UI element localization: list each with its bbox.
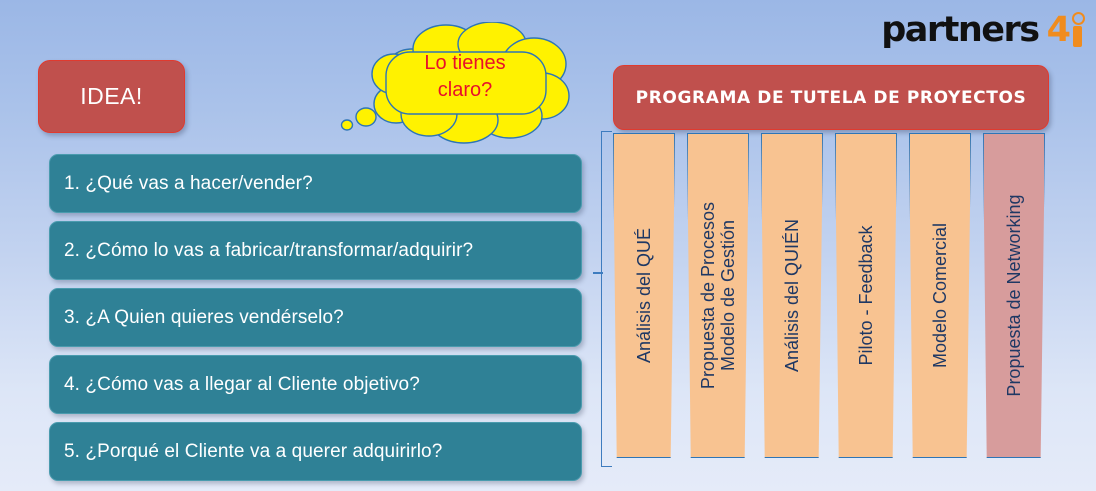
stage-label: Propuesta de Networking — [984, 134, 1044, 457]
stage-label: Propuesta de Procesos Modelo de Gestión — [688, 134, 748, 457]
brand-name: partners — [881, 13, 1038, 48]
question-label: 1. ¿Qué vas a hacer/vender? — [50, 173, 313, 195]
program-stages: Análisis del QUÉ Propuesta de Procesos M… — [613, 133, 1063, 458]
stage-chevron-6[interactable]: Propuesta de Networking — [983, 133, 1045, 458]
stage-label: Piloto - Feedback — [836, 134, 896, 457]
slide-canvas: partners 4 IDEA! — [0, 0, 1096, 491]
stage-label: Modelo Comercial — [910, 134, 970, 457]
stage-chevron-5[interactable]: Modelo Comercial — [909, 133, 971, 458]
lightbulb-i-icon — [1071, 12, 1084, 48]
question-label: 4. ¿Cómo vas a llegar al Cliente objetiv… — [50, 374, 420, 396]
thought-bubble: Lo tienes claro? — [334, 22, 574, 147]
stage-chevron-1[interactable]: Análisis del QUÉ — [613, 133, 675, 458]
question-item-5[interactable]: 5. ¿Porqué el Cliente va a querer adquir… — [49, 422, 582, 481]
idea-box: IDEA! — [38, 60, 185, 133]
question-item-4[interactable]: 4. ¿Cómo vas a llegar al Cliente objetiv… — [49, 355, 582, 414]
stage-label: Análisis del QUÉ — [614, 134, 674, 457]
bracket-tick — [593, 272, 603, 274]
question-list: 1. ¿Qué vas a hacer/vender? 2. ¿Cómo lo … — [49, 154, 582, 489]
question-label: 5. ¿Porqué el Cliente va a querer adquir… — [50, 441, 442, 463]
program-bracket — [601, 131, 612, 467]
stage-chevron-4[interactable]: Piloto - Feedback — [835, 133, 897, 458]
thought-bubble-shape — [334, 22, 574, 147]
stage-chevron-3[interactable]: Análisis del QUIÉN — [761, 133, 823, 458]
program-title: PROGRAMA DE TUTELA DE PROYECTOS — [636, 88, 1027, 108]
question-label: 2. ¿Cómo lo vas a fabricar/transformar/a… — [50, 240, 473, 262]
brand-logo: partners 4 — [872, 8, 1084, 52]
program-header: PROGRAMA DE TUTELA DE PROYECTOS — [613, 65, 1049, 130]
stage-label: Análisis del QUIÉN — [762, 134, 822, 457]
question-item-1[interactable]: 1. ¿Qué vas a hacer/vender? — [49, 154, 582, 213]
stage-chevron-2[interactable]: Propuesta de Procesos Modelo de Gestión — [687, 133, 749, 458]
brand-accent-number: 4 — [1047, 13, 1070, 48]
question-item-3[interactable]: 3. ¿A Quien quieres vendérselo? — [49, 288, 582, 347]
question-label: 3. ¿A Quien quieres vendérselo? — [50, 307, 344, 329]
question-item-2[interactable]: 2. ¿Cómo lo vas a fabricar/transformar/a… — [49, 221, 582, 280]
idea-label: IDEA! — [80, 83, 143, 110]
